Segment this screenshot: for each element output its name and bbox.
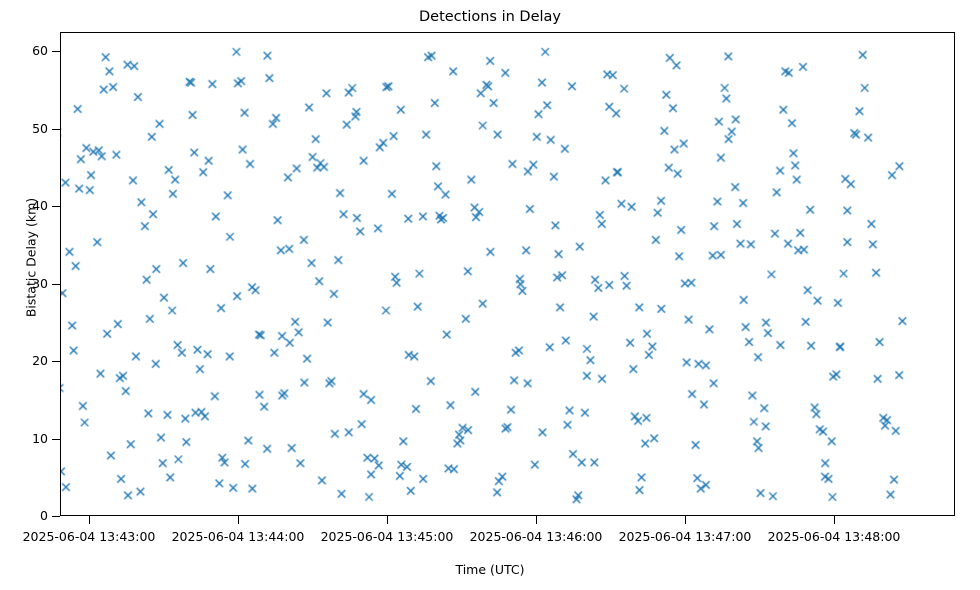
- y-axis-label: Bistatic Delay (km): [24, 16, 39, 500]
- y-tick-mark: [52, 439, 60, 440]
- y-tick-mark: [52, 284, 60, 285]
- y-tick-mark: [52, 206, 60, 207]
- y-tick-mark: [52, 51, 60, 52]
- x-tick-mark: [387, 516, 388, 524]
- y-tick-mark: [52, 129, 60, 130]
- matplotlib-figure: Detections in Delay 0 10 20 30 40 50 60 …: [0, 0, 980, 590]
- x-tick-mark: [536, 516, 537, 524]
- x-tick-mark: [834, 516, 835, 524]
- y-tick-label: 0: [0, 510, 48, 522]
- x-tick-label: 2025-06-04 13:48:00: [744, 530, 924, 544]
- y-tick-mark: [52, 361, 60, 362]
- x-tick-mark: [89, 516, 90, 524]
- x-tick-mark: [685, 516, 686, 524]
- x-axis-label: Time (UTC): [0, 562, 980, 577]
- y-tick-mark: [52, 516, 60, 517]
- chart-title: Detections in Delay: [0, 8, 980, 26]
- x-tick-mark: [238, 516, 239, 524]
- plot-axes: [60, 32, 955, 516]
- scatter-plot-canvas: [61, 33, 954, 515]
